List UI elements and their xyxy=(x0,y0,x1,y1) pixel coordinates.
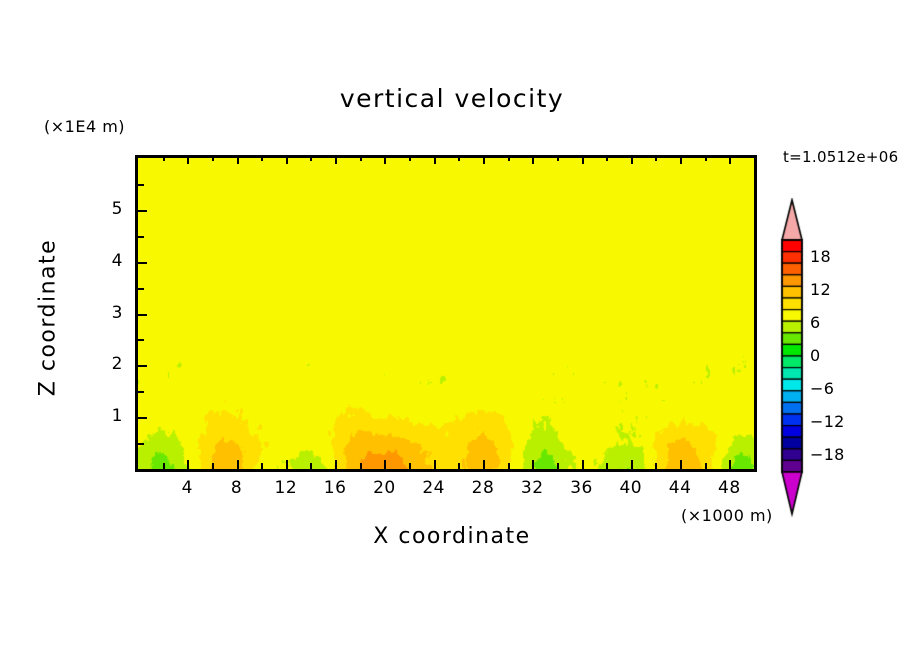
x-tick-minor xyxy=(508,155,510,161)
x-tick-top xyxy=(582,155,584,164)
x-tick-minor xyxy=(409,155,411,161)
x-tick-minor xyxy=(606,463,608,469)
y-tick xyxy=(138,262,147,264)
x-tick-label: 28 xyxy=(463,478,503,498)
x-tick-minor xyxy=(409,463,411,469)
x-tick-top xyxy=(434,155,436,164)
x-tick-minor xyxy=(212,463,214,469)
x-tick xyxy=(286,460,288,469)
x-tick-minor xyxy=(163,463,165,469)
y-tick-label: 3 xyxy=(95,303,123,323)
x-tick-top xyxy=(680,155,682,164)
x-tick-minor xyxy=(310,155,312,161)
x-tick xyxy=(434,460,436,469)
x-tick xyxy=(384,460,386,469)
x-tick xyxy=(729,460,731,469)
x-tick-minor xyxy=(261,463,263,469)
x-tick-top xyxy=(187,155,189,164)
x-unit-label: (×1000 m) xyxy=(681,506,773,525)
x-tick-minor xyxy=(212,155,214,161)
y-tick-label: 1 xyxy=(95,406,123,426)
time-annotation: t=1.0512e+06 xyxy=(783,148,898,166)
x-tick-top xyxy=(384,155,386,164)
y-axis-title: Z coordinate xyxy=(36,218,61,418)
x-tick-label: 8 xyxy=(217,478,257,498)
x-tick-minor xyxy=(705,463,707,469)
velocity-field-canvas xyxy=(138,158,754,469)
x-tick-top xyxy=(335,155,337,164)
y-tick-label: 5 xyxy=(95,199,123,219)
y-tick-label: 4 xyxy=(95,251,123,271)
x-tick-minor xyxy=(705,155,707,161)
y-tick-minor xyxy=(138,288,144,290)
x-tick-label: 16 xyxy=(315,478,355,498)
x-tick-label: 32 xyxy=(512,478,552,498)
x-tick xyxy=(335,460,337,469)
x-tick xyxy=(582,460,584,469)
contour-plot-area xyxy=(135,155,757,472)
colorbar-tick-label: 18 xyxy=(810,247,831,266)
x-tick xyxy=(237,460,239,469)
x-tick-top xyxy=(483,155,485,164)
x-tick-label: 44 xyxy=(660,478,700,498)
y-tick xyxy=(138,210,147,212)
x-tick xyxy=(187,460,189,469)
colorbar-tick-label: 6 xyxy=(810,313,820,332)
colorbar-tick-label: 0 xyxy=(810,346,820,365)
y-tick-minor xyxy=(138,339,144,341)
x-tick-minor xyxy=(606,155,608,161)
x-tick-minor xyxy=(360,463,362,469)
x-tick-minor xyxy=(458,463,460,469)
x-tick-minor xyxy=(557,463,559,469)
colorbar-tick-label: −18 xyxy=(810,445,845,464)
colorbar-tick-label: −12 xyxy=(810,412,845,431)
x-tick-top xyxy=(729,155,731,164)
x-tick-minor xyxy=(655,155,657,161)
chart-title: vertical velocity xyxy=(0,84,904,113)
x-axis-title: X coordinate xyxy=(0,524,904,549)
x-tick-minor xyxy=(261,155,263,161)
x-tick-label: 24 xyxy=(414,478,454,498)
colorbar-gradient xyxy=(779,198,805,518)
colorbar-tick-label: −6 xyxy=(810,379,834,398)
x-tick-minor xyxy=(310,463,312,469)
y-tick-minor xyxy=(138,236,144,238)
x-tick-label: 40 xyxy=(611,478,651,498)
x-tick-top xyxy=(532,155,534,164)
y-tick xyxy=(138,417,147,419)
x-tick-minor xyxy=(655,463,657,469)
x-tick xyxy=(680,460,682,469)
x-tick-label: 36 xyxy=(562,478,602,498)
x-tick xyxy=(532,460,534,469)
x-tick-minor xyxy=(163,155,165,161)
y-tick xyxy=(138,314,147,316)
x-tick-top xyxy=(237,155,239,164)
y-tick-minor xyxy=(138,184,144,186)
x-tick-label: 12 xyxy=(266,478,306,498)
y-tick-label: 2 xyxy=(95,354,123,374)
x-tick xyxy=(483,460,485,469)
x-tick-label: 20 xyxy=(364,478,404,498)
x-tick-label: 48 xyxy=(709,478,749,498)
x-tick-minor xyxy=(557,155,559,161)
colorbar-tick-label: 12 xyxy=(810,280,831,299)
x-tick-minor xyxy=(508,463,510,469)
x-tick-top xyxy=(631,155,633,164)
x-tick-top xyxy=(286,155,288,164)
y-tick xyxy=(138,365,147,367)
x-tick xyxy=(631,460,633,469)
x-tick-minor xyxy=(458,155,460,161)
y-tick-minor xyxy=(138,443,144,445)
colorbar xyxy=(779,198,805,518)
x-tick-label: 4 xyxy=(167,478,207,498)
y-tick-minor xyxy=(138,391,144,393)
x-tick-minor xyxy=(360,155,362,161)
y-unit-label: (×1E4 m) xyxy=(44,117,125,136)
